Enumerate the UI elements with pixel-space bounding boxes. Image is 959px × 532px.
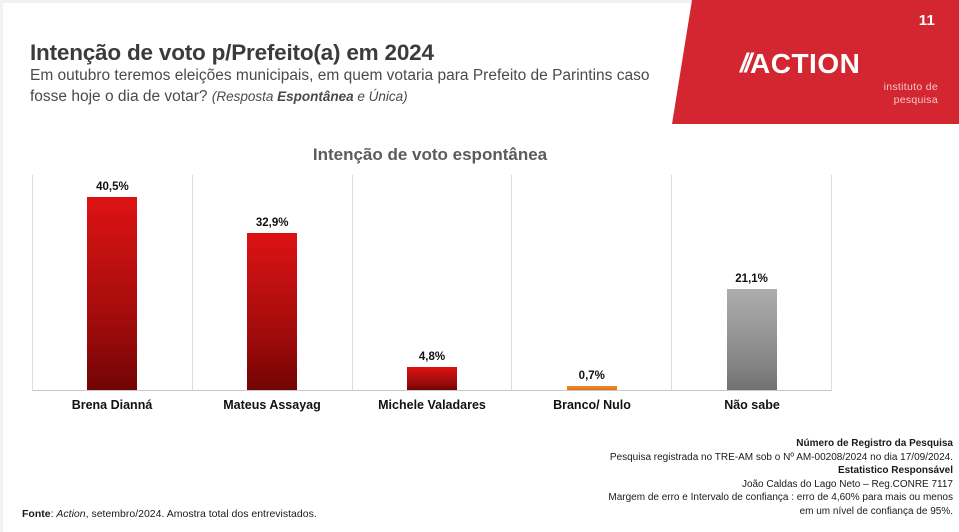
bar-group: 40,5% xyxy=(33,175,192,390)
brand-wordmark: ACTION xyxy=(750,50,860,78)
source-rest: , setembro/2024. Amostra total dos entre… xyxy=(86,508,317,520)
slide-left-edge xyxy=(0,3,3,532)
note-bold: Espontânea xyxy=(277,89,354,104)
chart-column: 40,5% xyxy=(33,175,193,390)
source-footer: Fonte: Action, setembro/2024. Amostra to… xyxy=(22,508,317,520)
bar-brena-dianna xyxy=(87,197,137,391)
chart-column: 0,7% xyxy=(512,175,672,390)
bar-value-label: 21,1% xyxy=(735,273,768,285)
bar-mateus-assayag xyxy=(247,233,297,390)
axis-label-michele-valadares: Michele Valadares xyxy=(352,398,512,412)
axis-label-brena-dianna: Brena Dianná xyxy=(32,398,192,412)
chart-column: 21,1% xyxy=(672,175,831,390)
page-number: 11 xyxy=(919,12,935,29)
source-label: Fonte xyxy=(22,508,51,520)
registry-number-text: Pesquisa registrada no TRE-AM sob o Nº A… xyxy=(523,451,953,465)
note-open: (Resposta xyxy=(212,89,277,104)
registry-heading-statistician: Estatistico Responsável xyxy=(523,464,953,478)
brand-logo: //ACTION instituto de pesquisa xyxy=(740,50,940,107)
bar-michele-valadares xyxy=(407,367,457,390)
bar-branco-nulo xyxy=(567,386,617,390)
bar-group: 21,1% xyxy=(672,175,831,390)
bar-value-label: 32,9% xyxy=(256,217,289,229)
chart-column: 4,8% xyxy=(353,175,513,390)
registry-margin-error-line2: em um nível de confiança de 95%. xyxy=(523,505,953,519)
bar-value-label: 0,7% xyxy=(579,370,605,382)
axis-label-mateus-assayag: Mateus Assayag xyxy=(192,398,352,412)
bar-group: 0,7% xyxy=(512,175,671,390)
page-title: Intenção de voto p/Prefeito(a) em 2024 xyxy=(30,40,434,66)
brand-tagline-line2: pesquisa xyxy=(740,94,938,107)
axis-label-nao-sabe: Não sabe xyxy=(672,398,832,412)
bar-nao-sabe xyxy=(727,289,777,390)
bar-group: 4,8% xyxy=(353,175,512,390)
brand-tagline-line1: instituto de xyxy=(740,81,938,94)
brand-slashes-icon: // xyxy=(740,50,749,77)
registry-heading-number: Número de Registro da Pesquisa xyxy=(523,437,953,451)
brand-banner: 11 //ACTION instituto de pesquisa xyxy=(672,0,959,124)
chart-category-axis: Brena Dianná Mateus Assayag Michele Vala… xyxy=(32,398,832,412)
bar-chart-plot: 40,5% 32,9% 4,8% 0,7% 21,1% xyxy=(32,175,832,391)
chart-title: Intenção de voto espontânea xyxy=(0,145,860,165)
registry-margin-error-line1: Margem de erro e Intervalo de confiança … xyxy=(523,491,953,505)
bar-value-label: 40,5% xyxy=(96,181,129,193)
chart-column: 32,9% xyxy=(193,175,353,390)
registry-footer: Número de Registro da Pesquisa Pesquisa … xyxy=(523,437,953,518)
subtitle-response-note: (Resposta Espontânea e Única) xyxy=(212,89,408,104)
page-subtitle: Em outubro teremos eleições municipais, … xyxy=(30,65,655,107)
bar-group: 32,9% xyxy=(193,175,352,390)
source-organization: Action xyxy=(56,508,85,520)
registry-statistician-name: João Caldas do Lago Neto – Reg.CONRE 711… xyxy=(523,478,953,492)
bar-value-label: 4,8% xyxy=(419,351,445,363)
note-close: e Única) xyxy=(354,89,408,104)
brand-tagline: instituto de pesquisa xyxy=(740,81,940,107)
axis-label-branco-nulo: Branco/ Nulo xyxy=(512,398,672,412)
